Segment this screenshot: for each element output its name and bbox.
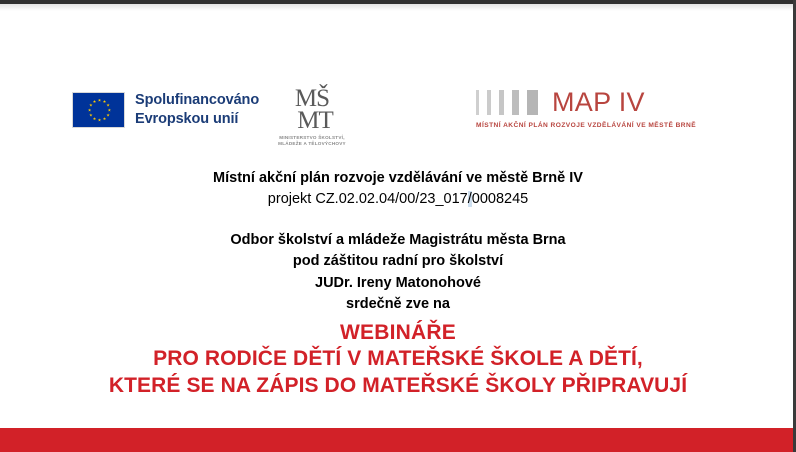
msmt-caption-line-2: MLÁDEŽE A TĚLOVÝCHOVY: [262, 141, 362, 147]
logo-strip: Spolufinancováno Evropskou unií MŠ MT MI…: [0, 86, 796, 138]
organizer-patronage: pod záštitou radní pro školství: [0, 251, 796, 272]
organizer-block: Odbor školství a mládeže Magistrátu měst…: [0, 230, 796, 316]
project-number-prefix: projekt CZ.02.02.04/00/23_017: [268, 191, 468, 207]
map-iv-logo: MAP IV MÍSTNÍ AKČNÍ PLÁN ROZVOJE VZDĚLÁV…: [476, 86, 712, 129]
map-iv-logo-row: MAP IV: [476, 86, 712, 118]
msmt-monogram-line-2: MT: [268, 110, 362, 132]
window-top-shadow: [0, 4, 796, 11]
organizer-department: Odbor školství a mládeže Magistrátu měst…: [0, 230, 796, 251]
map-iv-subtitle: MÍSTNÍ AKČNÍ PLÁN ROZVOJE VZDĚLÁVÁNÍ VE …: [476, 122, 712, 129]
project-title: Místní akční plán rozvoje vzdělávání ve …: [0, 168, 796, 189]
bottom-red-band: [0, 428, 793, 452]
eu-cofunding-logo: Spolufinancováno Evropskou unií: [72, 91, 259, 128]
headline-line-2: PRO RODIČE DĚTÍ V MATEŘSKÉ ŠKOLE A DĚTÍ,: [0, 346, 796, 372]
project-number: projekt CZ.02.02.04/00/23_017/0008245: [0, 189, 796, 210]
presentation-slide: Spolufinancováno Evropskou unií MŠ MT MI…: [0, 0, 796, 452]
msmt-ministry-logo: MŠ MT MINISTERSTVO ŠKOLSTVÍ, MLÁDEŽE A T…: [262, 88, 362, 147]
eu-cofunding-label: Spolufinancováno Evropskou unií: [135, 91, 259, 128]
eu-label-line-2: Evropskou unií: [135, 110, 259, 129]
project-title-block: Místní akční plán rozvoje vzdělávání ve …: [0, 168, 796, 209]
eu-label-line-1: Spolufinancováno: [135, 91, 259, 110]
msmt-caption: MINISTERSTVO ŠKOLSTVÍ, MLÁDEŽE A TĚLOVÝC…: [262, 135, 362, 147]
organizer-invitation: srdečně zve na: [0, 294, 796, 315]
map-bars-icon: [476, 90, 538, 115]
headline-block: WEBINÁŘE PRO RODIČE DĚTÍ V MATEŘSKÉ ŠKOL…: [0, 320, 796, 399]
msmt-monogram-icon: MŠ MT: [262, 88, 362, 132]
headline-line-3: KTERÉ SE NA ZÁPIS DO MATEŘSKÉ ŠKOLY PŘIP…: [0, 373, 796, 399]
map-iv-title: MAP IV: [552, 89, 645, 116]
headline-line-1: WEBINÁŘE: [0, 320, 796, 346]
project-number-suffix: 0008245: [472, 191, 528, 207]
eu-stars-icon: [73, 93, 124, 127]
organizer-person: JUDr. Ireny Matonohové: [0, 273, 796, 294]
eu-flag-icon: [72, 92, 125, 128]
